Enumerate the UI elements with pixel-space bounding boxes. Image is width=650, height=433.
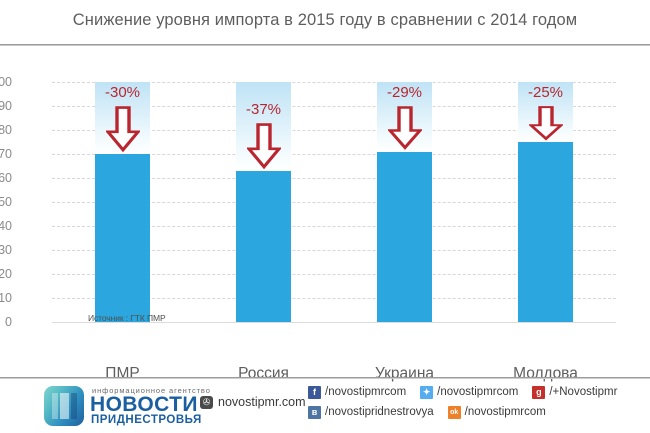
twitter-icon: ✦ xyxy=(420,386,433,399)
globe-icon: ✇ xyxy=(200,396,213,409)
down-arrow-icon xyxy=(247,123,281,170)
social-link-facebook[interactable]: f/novostipmrcom xyxy=(308,386,406,399)
website-label: novostipmr.com xyxy=(218,395,306,409)
footer-divider xyxy=(0,377,650,379)
logo-bar-left xyxy=(52,393,58,419)
bar[interactable] xyxy=(95,154,150,322)
social-handle-label: /novostipmrcom xyxy=(465,406,546,418)
y-axis-tick-label: 70 xyxy=(0,147,12,161)
y-axis-tick-label: 60 xyxy=(0,171,12,185)
social-row-secondary: в/novostipridnestrovyaok/novostipmrcom xyxy=(308,404,631,420)
bar-group[interactable]: -37% xyxy=(236,82,291,322)
bar-group[interactable]: -25% xyxy=(518,82,573,322)
source-note: Источник : ГТК ПМР xyxy=(88,313,166,323)
social-link-twitter[interactable]: ✦/novostipmrcom xyxy=(420,386,518,399)
bar-annotation-label: -29% xyxy=(363,84,446,101)
bar[interactable] xyxy=(236,171,291,322)
social-handle-label: /+Novostipmr xyxy=(549,386,617,398)
down-arrow-icon xyxy=(388,106,422,151)
odnoklassniki-icon: ok xyxy=(448,406,461,419)
logo-bar-middle xyxy=(60,393,69,419)
bar-group[interactable]: -29% xyxy=(377,82,432,322)
y-axis-tick-label: 20 xyxy=(0,267,12,281)
social-link-odnoklassniki[interactable]: ok/novostipmrcom xyxy=(448,406,546,419)
page-title: Снижение уровня импорта в 2015 году в ср… xyxy=(0,11,650,30)
y-axis-tick-label: 0 xyxy=(0,315,12,329)
y-axis-tick-label: 90 xyxy=(0,99,12,113)
plot-canvas: 1009080706050403020100-30%ПМР-37%Россия-… xyxy=(52,82,616,322)
down-arrow-icon xyxy=(106,106,140,153)
facebook-icon: f xyxy=(308,386,321,399)
vkontakte-icon: в xyxy=(308,406,321,419)
social-row-primary: f/novostipmrcom✦/novostipmrcomg/+Novosti… xyxy=(308,384,631,400)
bar[interactable] xyxy=(377,152,432,322)
header: Снижение уровня импорта в 2015 году в ср… xyxy=(0,0,650,46)
social-handle-label: /novostipridnestrovya xyxy=(325,406,434,418)
y-axis-tick-label: 80 xyxy=(0,123,12,137)
bar-annotation-label: -37% xyxy=(222,101,305,118)
logo-bar-right xyxy=(71,393,77,419)
logo-icon xyxy=(44,386,84,426)
bar-annotation-label: -30% xyxy=(81,84,164,101)
bar[interactable] xyxy=(518,142,573,322)
bar-annotation-label: -25% xyxy=(504,84,587,101)
footer: информационное агентство НОВОСТИ ПРИДНЕС… xyxy=(0,377,650,433)
y-axis-tick-label: 50 xyxy=(0,195,12,209)
y-axis-tick-label: 10 xyxy=(0,291,12,305)
logo-subtitle: ПРИДНЕСТРОВЬЯ xyxy=(91,414,202,426)
down-arrow-icon xyxy=(529,106,563,141)
social-links: f/novostipmrcom✦/novostipmrcomg/+Novosti… xyxy=(308,384,631,424)
social-handle-label: /novostipmrcom xyxy=(325,386,406,398)
y-axis-tick-label: 40 xyxy=(0,219,12,233)
website-link[interactable]: ✇ novostipmr.com xyxy=(200,395,306,409)
chart-area: 1009080706050403020100-30%ПМР-37%Россия-… xyxy=(0,46,650,336)
social-link-vkontakte[interactable]: в/novostipridnestrovya xyxy=(308,406,434,419)
social-handle-label: /novostipmrcom xyxy=(437,386,518,398)
social-link-googleplus[interactable]: g/+Novostipmr xyxy=(532,386,617,399)
googleplus-icon: g xyxy=(532,386,545,399)
y-axis-tick-label: 30 xyxy=(0,243,12,257)
y-axis-tick-label: 100 xyxy=(0,75,12,89)
bar-group[interactable]: -30% xyxy=(95,82,150,322)
